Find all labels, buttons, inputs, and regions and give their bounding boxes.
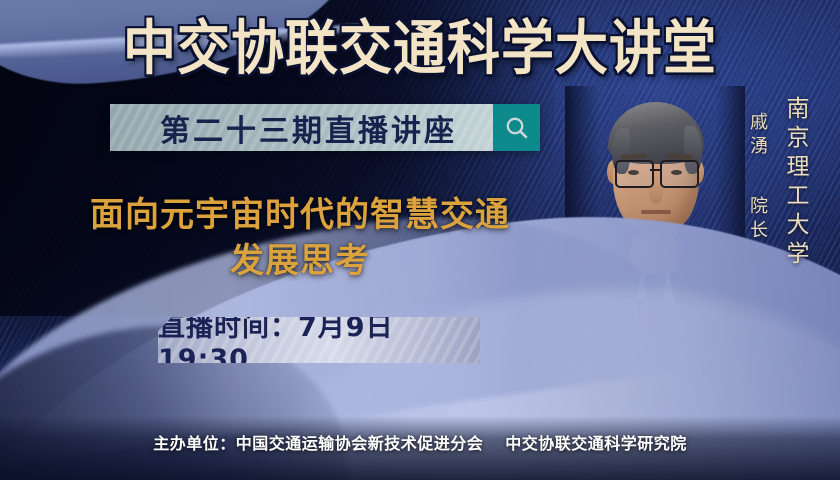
glasses-bridge	[650, 169, 662, 171]
speaker-title: 院长	[744, 196, 770, 244]
episode-banner: 第二十三期直播讲座	[110, 104, 540, 151]
portrait-mouth	[641, 210, 671, 214]
footer-prefix: 主办单位：	[153, 434, 236, 453]
portrait-nose	[649, 182, 663, 204]
speaker-portrait	[565, 86, 745, 396]
glasses-lens-right	[660, 160, 699, 188]
speaker-name: 戚湧	[744, 112, 770, 160]
speaker-organization: 南京理工大学	[778, 96, 812, 270]
lecture-topic-line2: 发展思考	[40, 238, 560, 284]
broadcast-time-badge: 直播时间：7月9日19:30	[158, 317, 480, 363]
page-title: 中交协联交通科学大讲堂	[0, 16, 840, 83]
livestream-poster: 中交协联交通科学大讲堂 第二十三期直播讲座 面向元宇宙时代的智慧交通 发展思考 …	[0, 0, 840, 480]
footer-org-1: 中国交通运输协会新技术促进分会	[236, 434, 484, 453]
footer-organizers: 主办单位：中国交通运输协会新技术促进分会中交协联交通科学研究院	[0, 430, 840, 454]
search-icon[interactable]	[493, 104, 540, 151]
portrait-neck	[631, 234, 679, 274]
portrait-bottom-fade	[565, 340, 745, 396]
footer-org-2: 中交协联交通科学研究院	[505, 434, 687, 453]
lecture-topic: 面向元宇宙时代的智慧交通 发展思考	[40, 192, 560, 284]
episode-label: 第二十三期直播讲座	[110, 106, 493, 150]
lecture-topic-line1: 面向元宇宙时代的智慧交通	[90, 195, 510, 235]
